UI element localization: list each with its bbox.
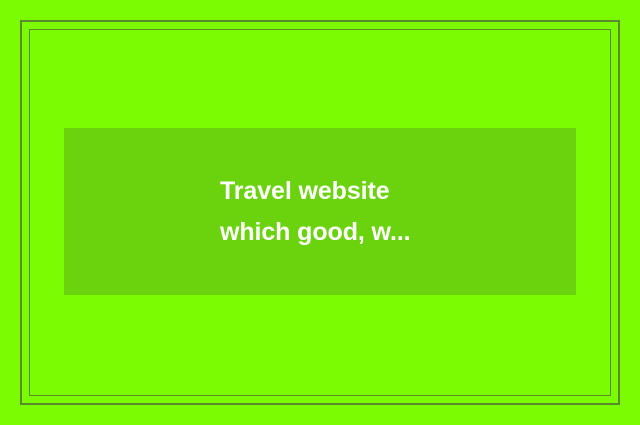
headline-line-2: which good, w... [220, 212, 411, 253]
headline-panel: Travel website which good, w... [64, 128, 576, 295]
card-canvas: Travel website which good, w... [0, 0, 640, 425]
headline-line-1: Travel website [220, 171, 390, 212]
